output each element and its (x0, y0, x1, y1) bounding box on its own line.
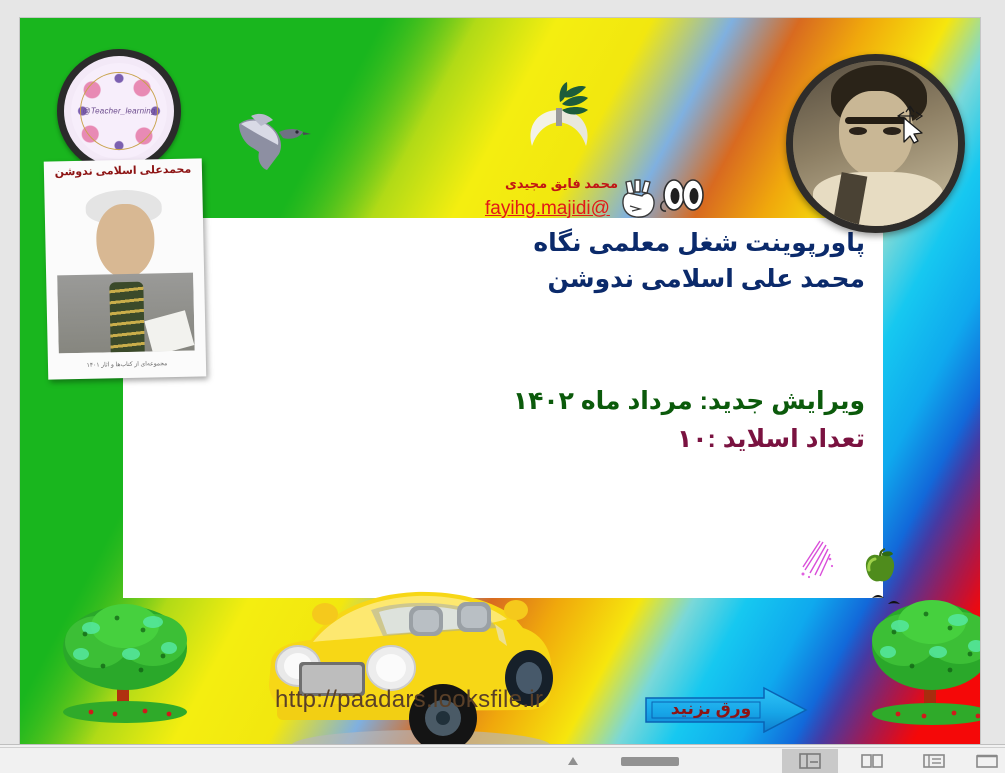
scrollbar-thumb[interactable] (620, 749, 680, 773)
view-reading-button[interactable] (906, 749, 962, 773)
triangle-up-icon (567, 756, 579, 766)
status-bar (0, 744, 1005, 773)
round-sepia-portrait[interactable] (786, 54, 965, 233)
olive-branch-icon (518, 80, 600, 160)
right-arrow-icon (644, 686, 808, 734)
portrait-scarf (109, 282, 144, 353)
round-portrait-eye-left (849, 127, 867, 135)
portrait-frame: محمدعلی اسلامی ندوشن مجموعه‌ای از کتاب‌ه… (44, 158, 207, 379)
view-slide-sorter-button[interactable] (844, 749, 900, 773)
green-tree-icon-right (858, 588, 980, 738)
view-slideshow-button[interactable] (968, 749, 1005, 773)
scroll-up-button[interactable] (560, 749, 586, 773)
slideshow-icon (976, 753, 998, 769)
logo-text: @Teacher_learning (64, 107, 174, 116)
green-tree-icon-left (45, 596, 210, 736)
subtitle-block: ویرایش جدید: مرداد ماه ۱۴۰۲ تعداد اسلاید… (395, 383, 865, 458)
cartoon-eyes-icon (660, 178, 706, 218)
floral-circle-logo-icon: @Teacher_learning (57, 49, 181, 173)
status-bar-divider (0, 747, 1005, 748)
application-root: پاورپوینت شغل معلمی نگاه محمد علی اسلامی… (0, 0, 1005, 773)
portrait-photo (55, 181, 195, 354)
green-apple-icon-right (863, 548, 897, 584)
portrait-credit: مجموعه‌ای از کتاب‌ها و آثار ۱۴۰۱ (59, 360, 195, 375)
portrait-face (96, 203, 156, 278)
sparkle-burst-icon-right (795, 538, 835, 580)
slide-count-line: تعداد اسلاید :۱۰ (395, 421, 865, 459)
slide-canvas[interactable]: پاورپوینت شغل معلمی نگاه محمد علی اسلامی… (20, 18, 980, 745)
slide-sorter-icon (861, 753, 883, 769)
reading-view-icon (923, 753, 945, 769)
scrollbar-thumb-icon (621, 755, 679, 767)
title-line-1: پاورپوینت شغل معلمی نگاه (395, 226, 865, 262)
view-normal-button[interactable] (782, 749, 838, 773)
normal-view-icon (799, 753, 821, 769)
title-block: پاورپوینت شغل معلمی نگاه محمد علی اسلامی… (395, 226, 865, 297)
content-card: پاورپوینت شغل معلمی نگاه محمد علی اسلامی… (123, 218, 883, 598)
site-url[interactable]: http://paadars.looksfile.ir (275, 686, 543, 714)
title-line-2: محمد علی اسلامی ندوشن (395, 262, 865, 298)
next-slide-arrow-button[interactable]: ورق بزنید (644, 686, 808, 734)
yellow-convertible-car-icon (251, 570, 571, 745)
dove-icon (233, 106, 313, 176)
move-cursor-icon (896, 102, 926, 144)
author-name: محمد فایق مجیدی (498, 176, 618, 192)
subtitle-line: ویرایش جدید: مرداد ماه ۱۴۰۲ (395, 383, 865, 421)
waving-hand-icon (618, 178, 662, 224)
author-email[interactable]: fayihg.majidi@ (485, 198, 610, 220)
